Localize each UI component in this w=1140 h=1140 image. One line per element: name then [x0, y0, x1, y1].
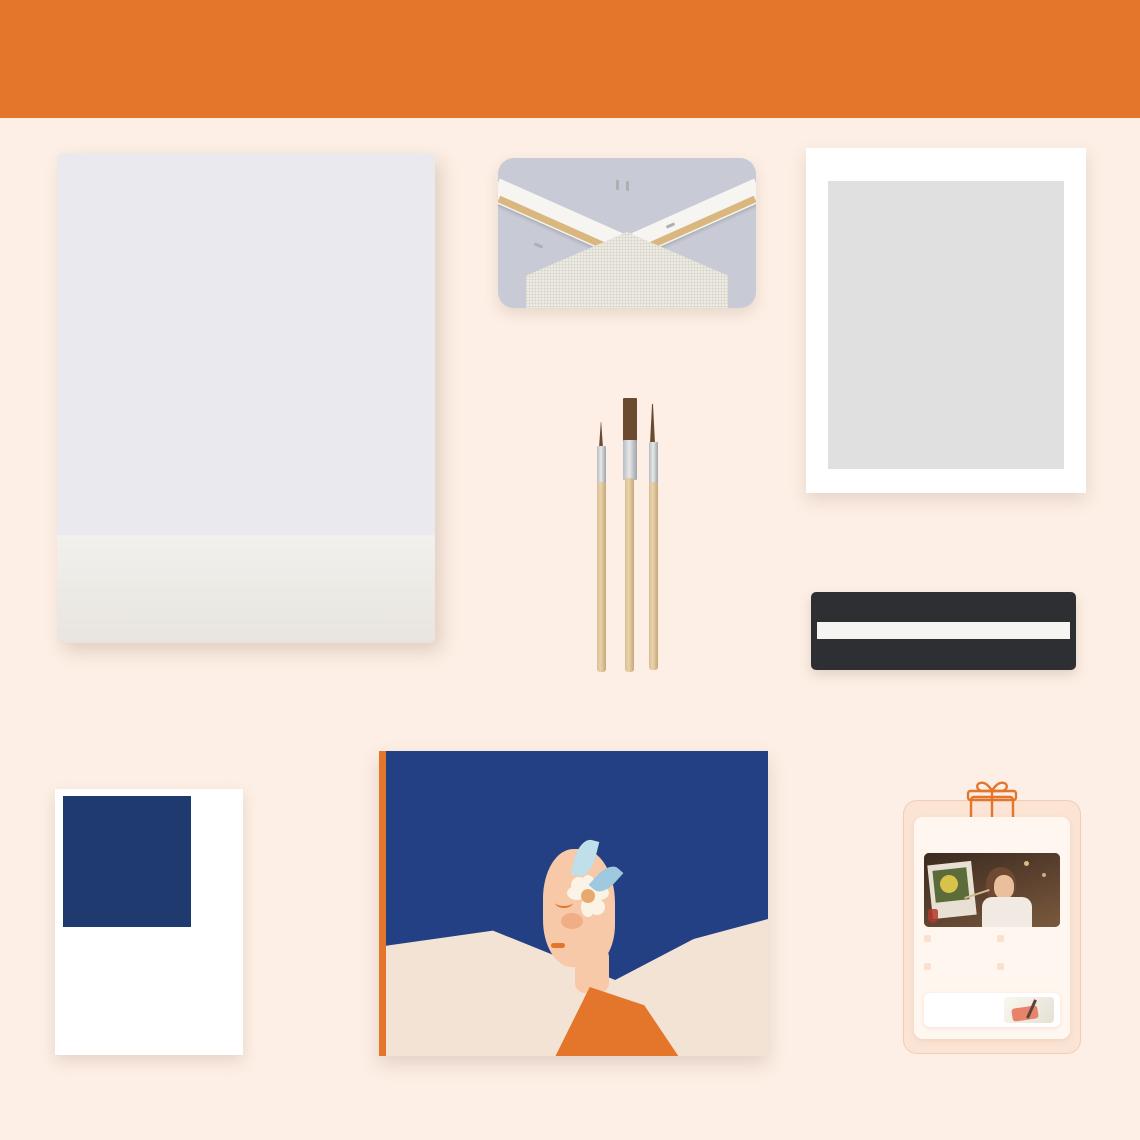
acrylic-paints-image: [811, 592, 1076, 670]
reference-sheet-image: [806, 148, 1086, 493]
pdf-tip-2-num: [924, 963, 931, 970]
pdf-photo: [924, 853, 1060, 927]
myart-box-image: [379, 751, 768, 1056]
numbered-canvas-image: [57, 153, 435, 643]
pre-stretched-image: [498, 158, 756, 308]
color-card-image: [55, 789, 243, 1055]
pdf-callout: [924, 993, 1060, 1027]
color-card-chart: [198, 796, 238, 1048]
pdf-tip-3-num: [997, 963, 1004, 970]
header-banner: [0, 0, 1140, 118]
pdf-guide-image: [903, 800, 1081, 1054]
pdf-tip-0-num: [924, 935, 931, 942]
pdf-tip-1-num: [997, 935, 1004, 942]
brushes-image: [583, 390, 678, 675]
